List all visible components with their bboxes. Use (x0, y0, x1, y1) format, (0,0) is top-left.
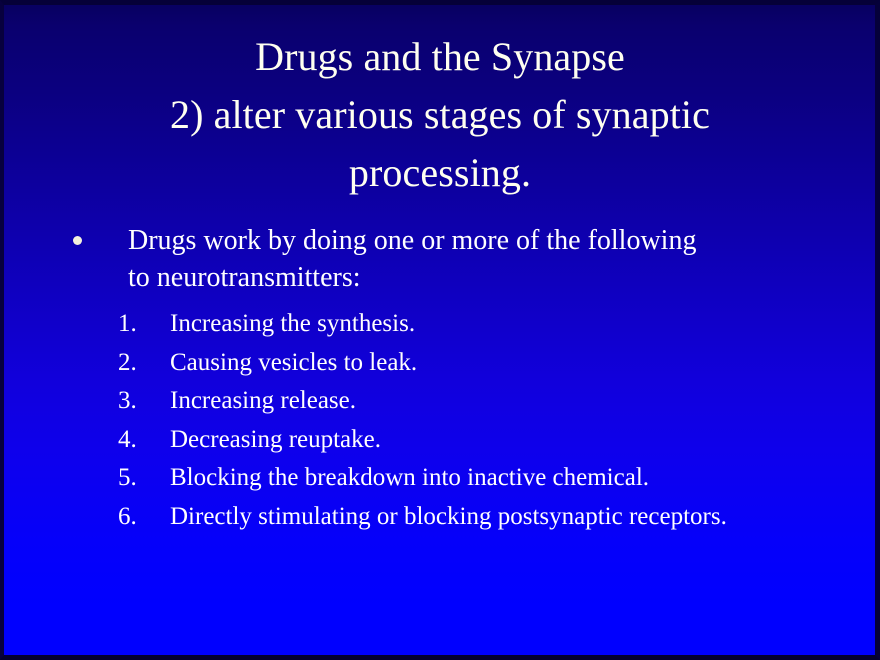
title-line-1: Drugs and the Synapse (40, 28, 840, 86)
list-item-text: Decreasing reuptake. (170, 421, 760, 460)
list-item-number: 5. (118, 459, 137, 498)
bullet-list-item: Drugs work by doing one or more of the f… (0, 222, 880, 296)
list-item: 5. Blocking the breakdown into inactive … (0, 459, 880, 498)
slide-body: Drugs work by doing one or more of the f… (0, 222, 880, 536)
presentation-slide: Drugs and the Synapse 2) alter various s… (0, 0, 880, 660)
list-item-number: 6. (118, 498, 137, 537)
list-item-number: 4. (118, 421, 137, 460)
bullet-dot-icon (73, 236, 82, 245)
numbered-list: 1. Increasing the synthesis. 2. Causing … (0, 305, 880, 536)
list-item-text: Blocking the breakdown into inactive che… (170, 459, 760, 498)
list-item-number: 3. (118, 382, 137, 421)
list-item: 1. Increasing the synthesis. (0, 305, 880, 344)
bullet-item-text: Drugs work by doing one or more of the f… (128, 225, 696, 293)
list-item-number: 2. (118, 344, 137, 383)
list-item: 6. Directly stimulating or blocking post… (0, 498, 880, 537)
list-item-text: Increasing the synthesis. (170, 305, 760, 344)
slide-title: Drugs and the Synapse 2) alter various s… (40, 28, 840, 202)
slide-content: Drugs and the Synapse 2) alter various s… (0, 0, 880, 660)
list-item-text: Directly stimulating or blocking postsyn… (170, 498, 760, 537)
list-item-number: 1. (118, 305, 137, 344)
list-item-text: Increasing release. (170, 382, 760, 421)
title-line-3: processing. (40, 144, 840, 202)
list-item: 4. Decreasing reuptake. (0, 421, 880, 460)
list-item: 3. Increasing release. (0, 382, 880, 421)
list-item-text: Causing vesicles to leak. (170, 344, 760, 383)
list-item: 2. Causing vesicles to leak. (0, 344, 880, 383)
title-line-2: 2) alter various stages of synaptic (40, 86, 840, 144)
